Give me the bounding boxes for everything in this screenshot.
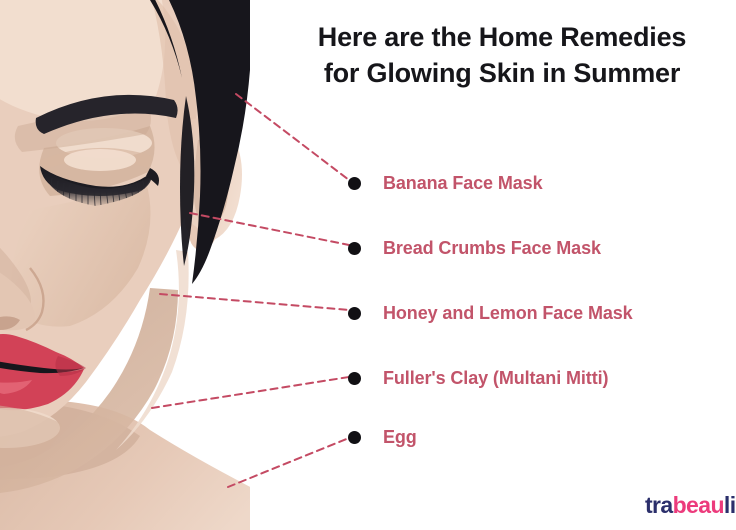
brand-logo-segment-3: li (724, 492, 736, 518)
brand-logo-segment-1: tra (645, 492, 673, 518)
list-item[interactable]: Bread Crumbs Face Mask (348, 237, 601, 259)
list-item[interactable]: Honey and Lemon Face Mask (348, 302, 633, 324)
brand-logo-segment-2: beau (673, 492, 724, 518)
head-group (0, 0, 300, 530)
bullet-icon (348, 431, 361, 444)
page-title: Here are the Home Remedies for Glowing S… (282, 20, 722, 91)
list-item[interactable]: Egg (348, 426, 417, 448)
list-item-label: Honey and Lemon Face Mask (383, 303, 633, 324)
eyelid-highlight (64, 149, 136, 171)
brand-logo[interactable]: trabeauli (645, 492, 736, 519)
bullet-icon (348, 307, 361, 320)
list-item-label: Bread Crumbs Face Mask (383, 238, 601, 259)
list-item-label: Fuller's Clay (Multani Mitti) (383, 368, 608, 389)
bullet-icon (348, 372, 361, 385)
bullet-icon (348, 242, 361, 255)
page-title-line-1: Here are the Home Remedies (282, 20, 722, 56)
woman-face-illustration (0, 0, 330, 530)
bullet-icon (348, 177, 361, 190)
list-item-label: Egg (383, 427, 417, 448)
list-item[interactable]: Fuller's Clay (Multani Mitti) (348, 367, 608, 389)
infographic-canvas: Here are the Home Remedies for Glowing S… (0, 0, 736, 530)
page-title-line-2: for Glowing Skin in Summer (282, 56, 722, 92)
list-item-label: Banana Face Mask (383, 173, 542, 194)
list-item[interactable]: Banana Face Mask (348, 172, 542, 194)
